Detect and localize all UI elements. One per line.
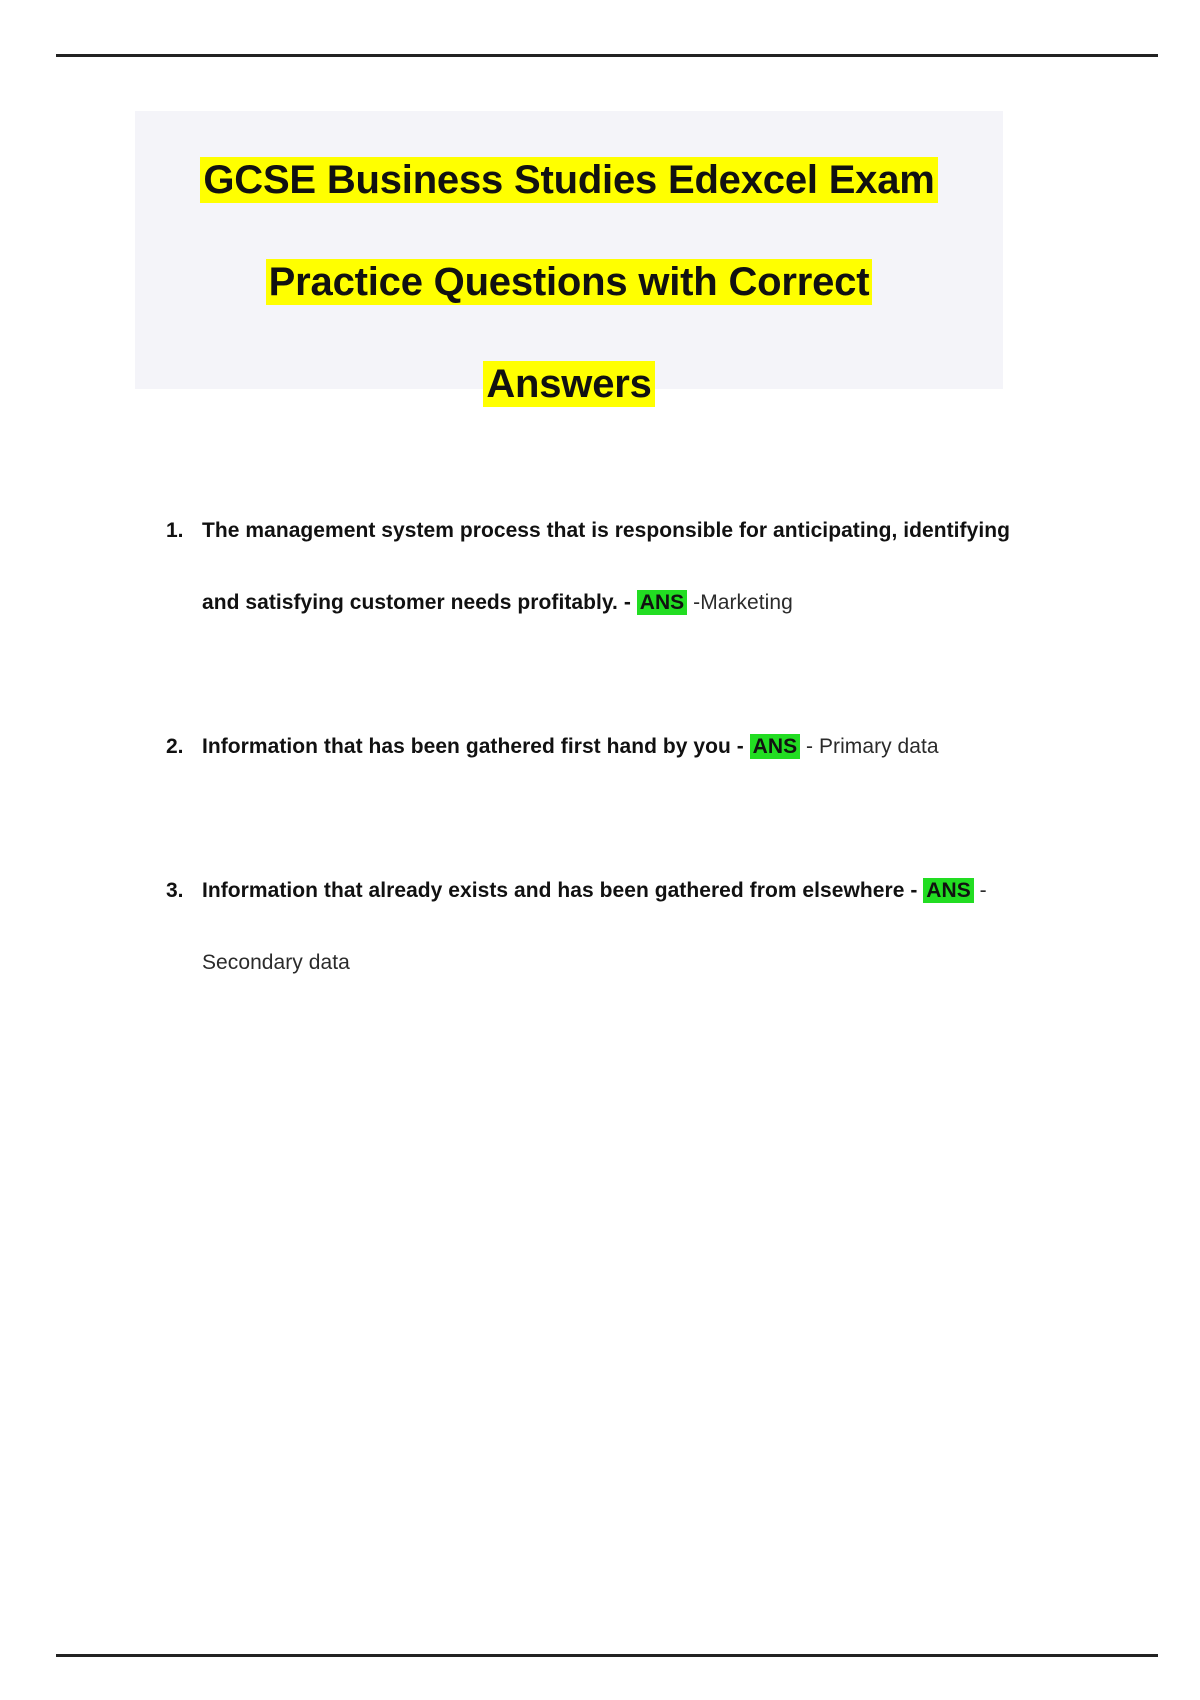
question-list: 1. The management system process that is… <box>166 495 1026 1071</box>
separator-after: - <box>980 879 987 902</box>
title-line-3-text: Answers <box>483 361 654 407</box>
ans-label: ANS <box>923 878 974 903</box>
question-item: 2. Information that has been gathered fi… <box>166 711 1026 783</box>
header-divider <box>56 54 1158 57</box>
question-body: Information that has been gathered first… <box>202 711 1026 783</box>
footer-divider <box>56 1654 1158 1657</box>
title-line-3: Answers <box>135 333 1003 435</box>
question-number: 1. <box>166 495 194 567</box>
question-item: 1. The management system process that is… <box>166 495 1026 639</box>
title-line-2-text: Practice Questions with Correct <box>266 259 873 305</box>
question-body: The management system process that is re… <box>202 495 1026 639</box>
question-number: 2. <box>166 711 194 783</box>
title-line-1: GCSE Business Studies Edexcel Exam <box>135 129 1003 231</box>
ans-label: ANS <box>750 734 801 759</box>
question-text: Information that already exists and has … <box>202 879 904 902</box>
answer-text: Secondary data <box>202 951 350 974</box>
ans-label: ANS <box>637 590 688 615</box>
title-line-1-text: GCSE Business Studies Edexcel Exam <box>200 157 937 203</box>
question-text: The management system process that is re… <box>202 519 1010 614</box>
question-number: 3. <box>166 855 194 927</box>
document-title-block: GCSE Business Studies Edexcel Exam Pract… <box>135 111 1003 389</box>
answer-text: Primary data <box>819 735 939 758</box>
question-body: Information that already exists and has … <box>202 855 1026 999</box>
document-page: GCSE Business Studies Edexcel Exam Pract… <box>0 0 1200 1700</box>
title-line-2: Practice Questions with Correct <box>135 231 1003 333</box>
answer-text: Marketing <box>700 591 793 614</box>
separator-before: - <box>624 591 631 614</box>
question-item: 3. Information that already exists and h… <box>166 855 1026 999</box>
separator-before: - <box>737 735 744 758</box>
question-text: Information that has been gathered first… <box>202 735 731 758</box>
